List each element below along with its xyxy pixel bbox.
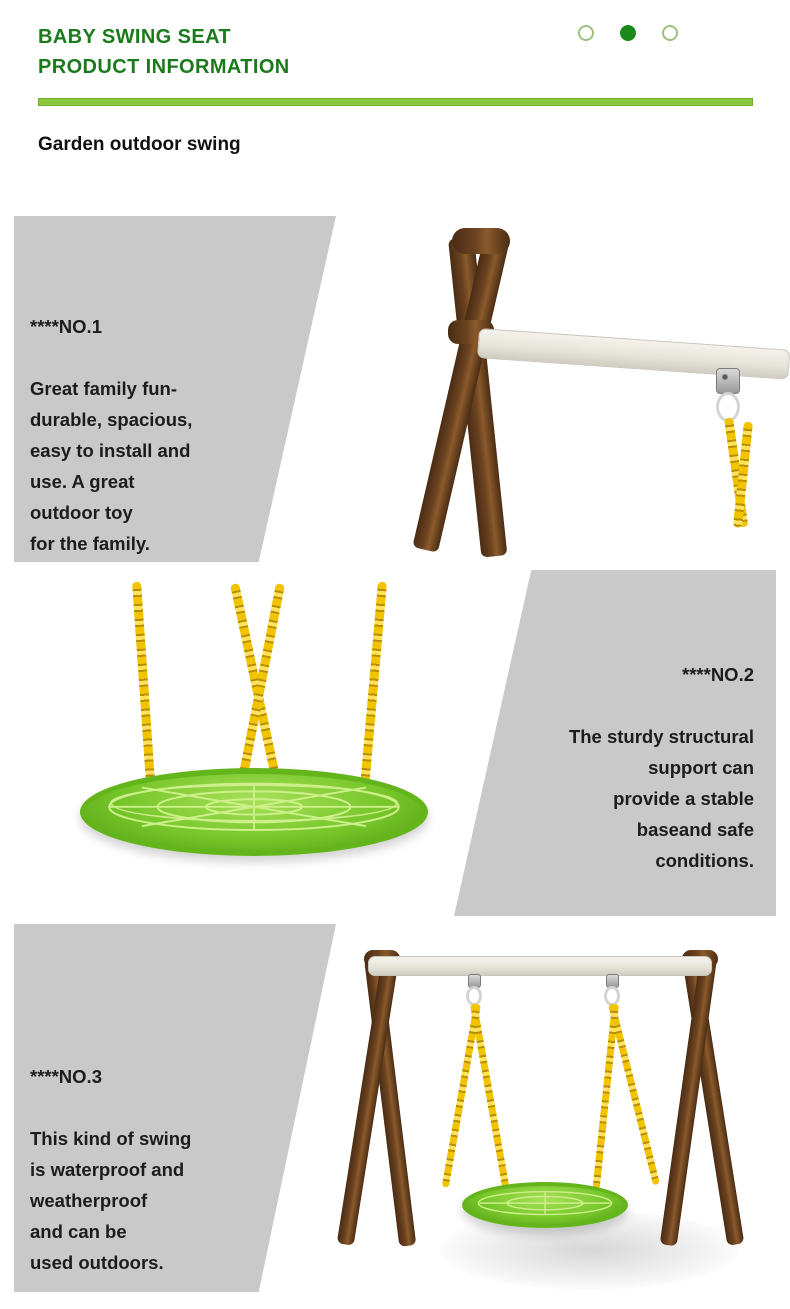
page-title: BABY SWING SEAT PRODUCT INFORMATION	[38, 22, 290, 82]
feature-2-label: ****NO.2	[504, 659, 754, 690]
carousel-dots[interactable]	[578, 22, 698, 44]
carousel-dot-3-icon[interactable]	[662, 25, 678, 41]
carousel-dot-2-icon[interactable]	[620, 25, 636, 41]
feature-2-text: ****NO.2 The sturdy structural support c…	[504, 628, 754, 907]
swing-frame-leg-top-cap-icon	[452, 228, 510, 254]
page-title-line-1: BABY SWING SEAT	[38, 22, 290, 52]
swing-set-chain-4-icon	[593, 1004, 619, 1190]
page-title-line-2: PRODUCT INFORMATION	[38, 52, 290, 82]
feature-1-text: ****NO.1 Great family fun- durable, spac…	[30, 280, 280, 590]
page-subtitle: Garden outdoor swing	[38, 134, 241, 156]
feature-3-body: This kind of swing is waterproof and wea…	[30, 1123, 280, 1278]
nest-chain-4-icon	[360, 582, 387, 786]
feature-2-image	[60, 570, 460, 916]
page-header: BABY SWING SEAT PRODUCT INFORMATION Gard…	[0, 0, 790, 172]
nest-swing-seat-icon	[80, 768, 428, 856]
swing-set-beam-icon	[368, 956, 712, 976]
feature-3-image	[320, 924, 790, 1292]
feature-1-image	[400, 216, 790, 562]
feature-2-body: The sturdy structural support can provid…	[504, 721, 754, 876]
feature-section-2: ****NO.2 The sturdy structural support c…	[0, 570, 790, 916]
feature-3-label: ****NO.3	[30, 1061, 280, 1092]
nest-chain-3-icon	[239, 583, 285, 777]
chain-bracket-icon	[716, 368, 740, 394]
swing-frame-beam-icon	[477, 328, 790, 380]
feature-section-1: ****NO.1 Great family fun- durable, spac…	[0, 216, 790, 562]
swing-set-nest-seat-icon	[462, 1182, 628, 1228]
bracket-bolt-icon	[722, 374, 728, 380]
nest-chain-1-icon	[132, 582, 155, 782]
swing-set-seat-web-icon	[466, 1186, 624, 1230]
title-divider	[38, 98, 753, 106]
nest-seat-web-icon	[86, 774, 422, 859]
swing-set-chain-2-icon	[442, 1003, 481, 1187]
feature-section-3: ****NO.3 This kind of swing is waterproo…	[0, 924, 790, 1292]
feature-3-text: ****NO.3 This kind of swing is waterproo…	[30, 1030, 280, 1309]
feature-1-body: Great family fun- durable, spacious, eas…	[30, 373, 280, 559]
feature-1-label: ****NO.1	[30, 311, 280, 342]
carousel-dot-1-icon[interactable]	[578, 25, 594, 41]
